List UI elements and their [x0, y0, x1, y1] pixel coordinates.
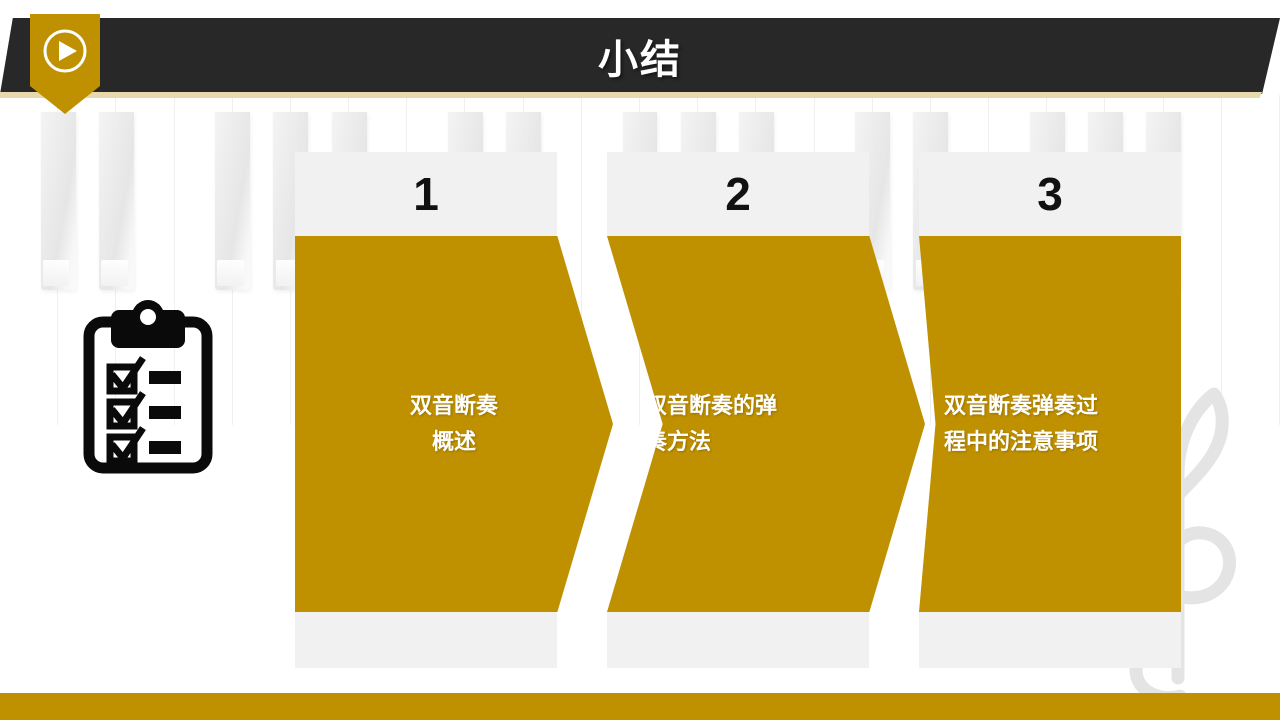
card-body: 双音断奏弹奏过 程中的注意事项 — [919, 236, 1181, 612]
card-label: 双音断奏弹奏过 程中的注意事项 — [944, 388, 1160, 459]
card-number: 3 — [1037, 171, 1063, 217]
card-footer — [295, 612, 557, 668]
process-card-3[interactable]: 3 双音断奏弹奏过 程中的注意事项 — [919, 152, 1181, 668]
card-body: 双音断奏的弹 奏方法 — [607, 236, 925, 612]
process-chevron-group: 1 双音断奏 概述 2 双音断奏的弹 奏方法 — [0, 0, 1280, 720]
card-label-line1: 双音断奏 — [346, 388, 562, 424]
card-number: 1 — [413, 171, 439, 217]
slide-canvas: 小结 — [0, 0, 1280, 720]
card-body: 双音断奏 概述 — [295, 236, 613, 612]
card-number-cap: 2 — [607, 152, 869, 236]
card-label: 双音断奏的弹 奏方法 — [645, 388, 861, 459]
card-footer — [607, 612, 869, 668]
card-label: 双音断奏 概述 — [346, 388, 562, 459]
card-label-line2: 奏方法 — [645, 424, 861, 460]
card-number-cap: 3 — [919, 152, 1181, 236]
process-card-1[interactable]: 1 双音断奏 概述 — [295, 152, 557, 668]
process-card-2[interactable]: 2 双音断奏的弹 奏方法 — [607, 152, 869, 668]
card-footer — [919, 612, 1181, 668]
card-label-line1: 双音断奏弹奏过 — [944, 388, 1160, 424]
card-number: 2 — [725, 171, 751, 217]
bottom-accent-bar — [0, 693, 1280, 720]
card-label-line2: 程中的注意事项 — [944, 424, 1160, 460]
card-number-cap: 1 — [295, 152, 557, 236]
card-label-line1: 双音断奏的弹 — [645, 388, 861, 424]
card-label-line2: 概述 — [346, 424, 562, 460]
